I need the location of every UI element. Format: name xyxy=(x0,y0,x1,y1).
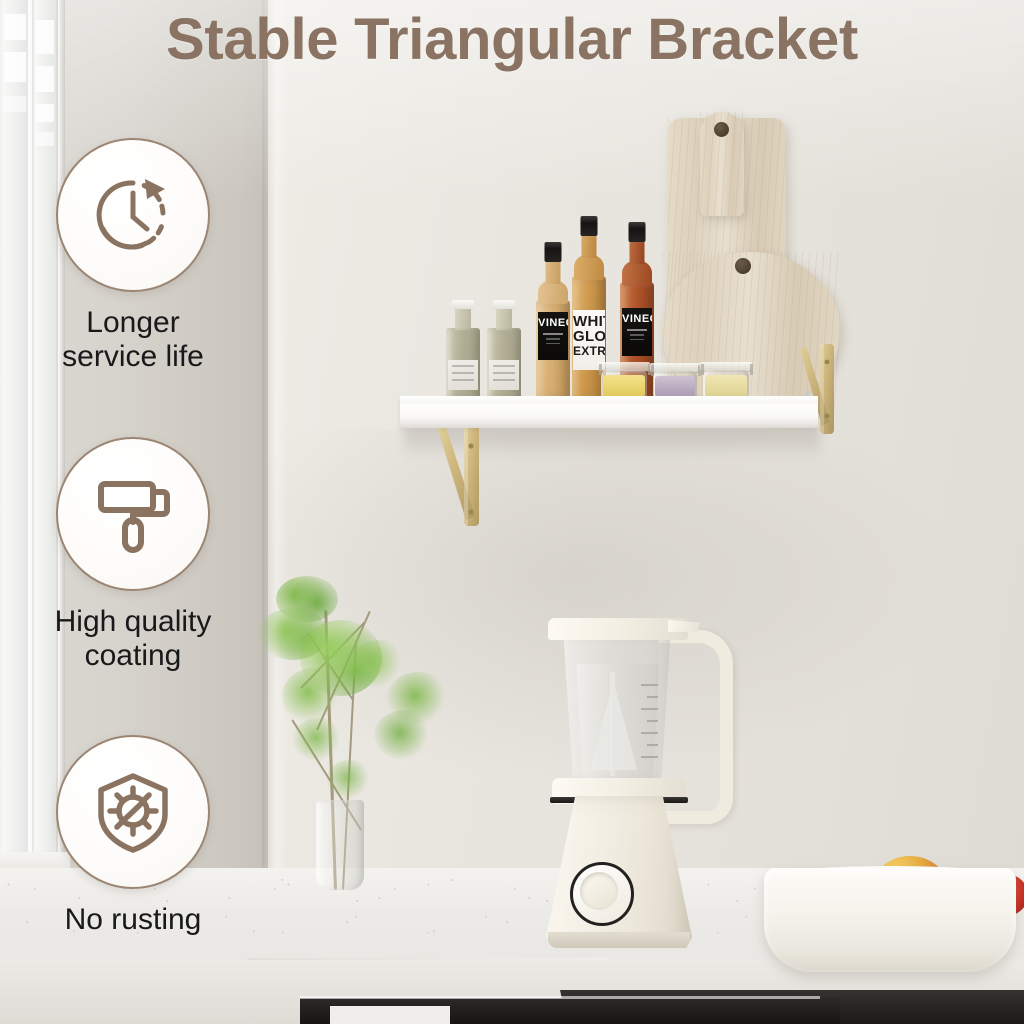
vinegar-label-text: VINEGAR xyxy=(538,317,568,329)
bottle-cap xyxy=(493,300,515,309)
glogg-label: WHITE GLOGG EXTRACT xyxy=(573,310,605,370)
small-glass-bottle xyxy=(446,328,480,400)
vinegar-right-label: VINEGAR xyxy=(622,308,652,356)
product-marketing-image: VINEGAR WHITE GLOGG EXTRACT VINEGAR xyxy=(0,0,1024,1024)
bottle-label xyxy=(448,360,478,390)
feature-label: High quality coating xyxy=(18,605,248,673)
feature-label: No rusting xyxy=(18,903,248,937)
label-rule xyxy=(630,339,644,341)
feature-longer-service-life[interactable]: Longer service life xyxy=(18,138,248,374)
jar-clip xyxy=(750,364,753,375)
glogg-label-line3: EXTRACT xyxy=(573,344,605,359)
bottle-neck xyxy=(496,306,512,330)
shelf-top-surface xyxy=(400,396,818,404)
feature-high-quality-coating[interactable]: High quality coating xyxy=(18,437,248,673)
shield-no-rust-icon xyxy=(87,766,179,858)
vinegar-bottle-left: VINEGAR xyxy=(536,300,570,400)
window-pane-left xyxy=(2,0,28,858)
window-blind-slat xyxy=(36,104,54,122)
feature-label-line1: High quality xyxy=(55,605,212,638)
small-glass-bottle xyxy=(487,328,521,400)
feature-icon-circle xyxy=(56,735,210,889)
window-mullion xyxy=(28,0,32,858)
round-board-hang-hole xyxy=(735,258,751,274)
vinegar-label: VINEGAR xyxy=(538,312,568,360)
plant-foliage xyxy=(326,760,374,800)
page-title: Stable Triangular Bracket xyxy=(0,10,1024,71)
feature-no-rusting[interactable]: No rusting xyxy=(18,735,248,937)
plant-foliage xyxy=(292,718,346,762)
glass-vase xyxy=(316,800,364,890)
feature-label-line1: No rusting xyxy=(65,903,202,936)
bottle-cap xyxy=(581,216,598,236)
blender-knob-inner[interactable] xyxy=(580,872,618,910)
feature-label-line2: coating xyxy=(85,639,182,672)
bottle-cap xyxy=(629,222,646,242)
label-rule xyxy=(630,334,644,336)
jar-clip xyxy=(701,364,704,375)
feature-icon-circle xyxy=(56,138,210,292)
clock-arrow-icon xyxy=(85,167,181,263)
triangular-bracket-left xyxy=(438,420,496,530)
feature-label-line1: Longer xyxy=(86,306,179,339)
label-rule xyxy=(546,338,560,340)
jar-clip xyxy=(599,364,602,375)
blender-measure-scale xyxy=(630,678,658,774)
plant-foliage xyxy=(374,710,436,760)
vinegar-right-label-text: VINEGAR xyxy=(622,313,652,325)
label-rule xyxy=(546,343,560,345)
plant-foliage xyxy=(282,668,344,726)
glogg-label-line2: GLOGG xyxy=(573,329,605,344)
bottle-cap xyxy=(452,300,474,309)
blender-foot xyxy=(548,932,690,948)
fruit-bowl xyxy=(764,868,1016,972)
glogg-label-line1: WHITE xyxy=(573,314,605,329)
paint-roller-icon xyxy=(87,468,179,560)
blender-lid[interactable] xyxy=(548,618,688,640)
cabinet-highlight-line xyxy=(300,996,820,999)
bottle-neck xyxy=(455,306,471,330)
bottle-cap xyxy=(545,242,562,262)
feature-icon-circle xyxy=(56,437,210,591)
label-rule xyxy=(627,329,647,331)
cutting-board-hang-hole xyxy=(714,122,729,137)
cabinet-white-panel xyxy=(330,1006,450,1024)
window-blind-slat xyxy=(4,96,26,112)
feature-label: Longer service life xyxy=(18,306,248,374)
feature-label-line2: service life xyxy=(62,340,204,373)
window-pane-right xyxy=(34,0,56,858)
jar-clip xyxy=(651,365,654,376)
bottle-label xyxy=(489,360,519,390)
label-rule xyxy=(543,333,563,335)
